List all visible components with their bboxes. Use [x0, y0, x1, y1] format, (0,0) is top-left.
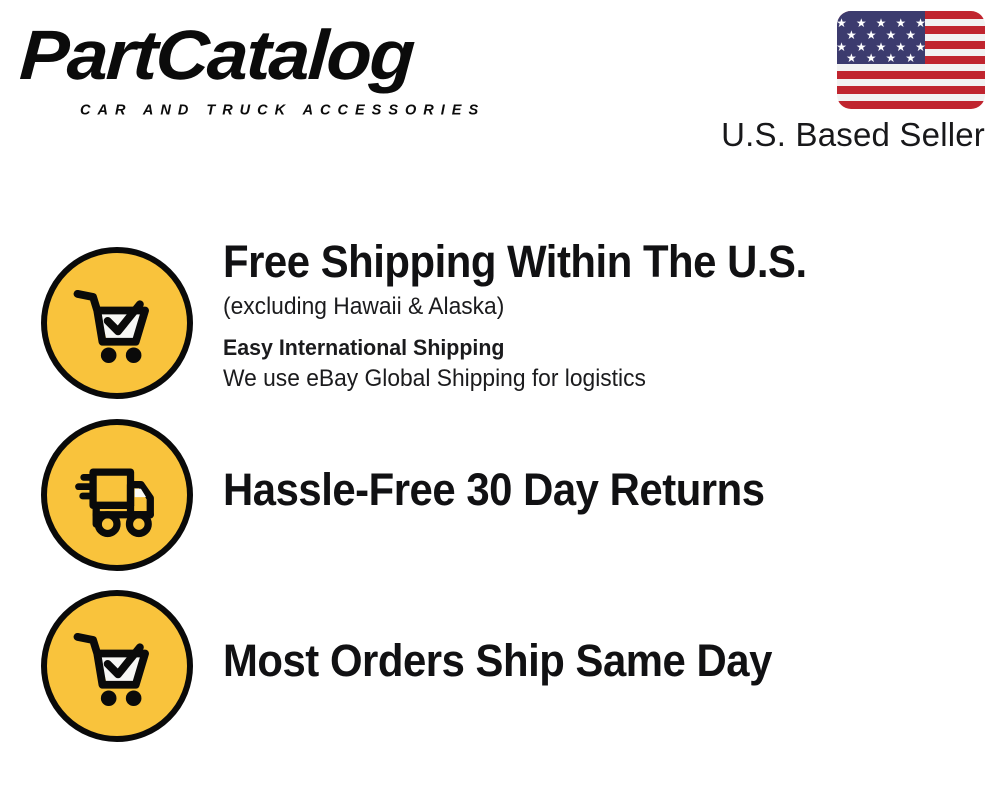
- us-based-seller-label: U.S. Based Seller: [720, 116, 985, 154]
- feature-row: Free Shipping Within The U.S. (excluding…: [0, 247, 1000, 399]
- flag-star-row: ★★★★: [837, 52, 925, 64]
- flag-canton: ★★★★★ ★★★★ ★★★★★ ★★★★: [837, 11, 925, 64]
- feature-title: Most Orders Ship Same Day: [223, 634, 930, 688]
- brand-logo: PartCatalog CAR AND TRUCK ACCESSORIES: [22, 18, 492, 118]
- feature-text-block: Most Orders Ship Same Day: [223, 634, 983, 688]
- feature-title: Free Shipping Within The U.S.: [223, 235, 930, 289]
- feature-text-block: Hassle-Free 30 Day Returns: [223, 463, 983, 517]
- delivery-truck-icon: [41, 419, 193, 571]
- feature-detail: We use eBay Global Shipping for logistic…: [223, 363, 945, 395]
- feature-title: Hassle-Free 30 Day Returns: [223, 463, 930, 517]
- feature-subtitle: Easy International Shipping: [223, 332, 945, 363]
- feature-text-block: Free Shipping Within The U.S. (excluding…: [223, 235, 983, 395]
- feature-row: Most Orders Ship Same Day: [0, 590, 1000, 742]
- shopping-cart-check-icon: [41, 590, 193, 742]
- feature-note: (excluding Hawaii & Alaska): [223, 291, 945, 323]
- brand-tagline: CAR AND TRUCK ACCESSORIES: [80, 102, 485, 119]
- header-banner: PartCatalog CAR AND TRUCK ACCESSORIES ★★…: [0, 0, 1000, 180]
- shopping-cart-check-icon: [41, 247, 193, 399]
- feature-row: Hassle-Free 30 Day Returns: [0, 419, 1000, 571]
- us-flag-icon: ★★★★★ ★★★★ ★★★★★ ★★★★: [837, 11, 985, 109]
- brand-wordmark: PartCatalog: [18, 18, 415, 92]
